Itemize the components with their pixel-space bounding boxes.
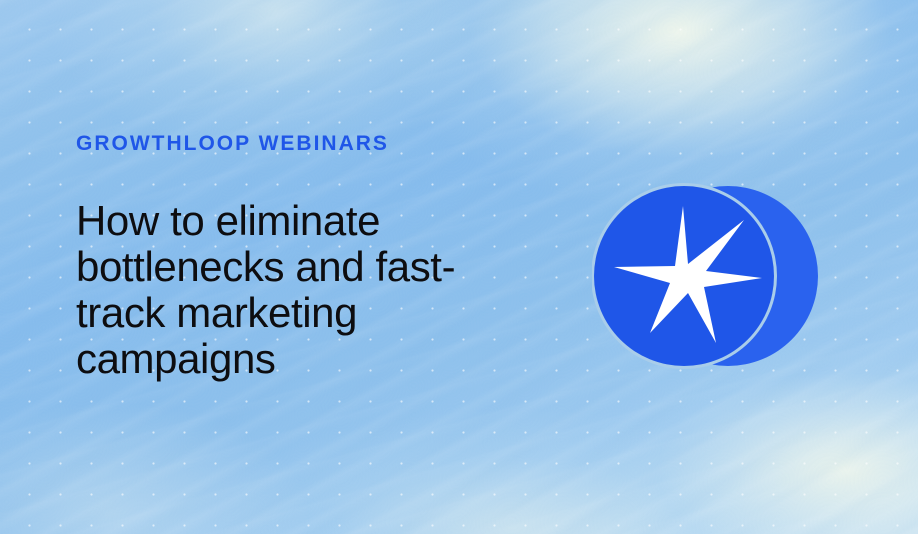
eyebrow-label: GROWTHLOOP WEBINARS (76, 133, 389, 154)
growthloop-logo (592, 180, 824, 372)
webinar-banner: GROWTHLOOP WEBINARS How to eliminate bot… (0, 0, 918, 534)
page-title: How to eliminate bottlenecks and fast-tr… (76, 198, 496, 382)
logo-svg (592, 180, 824, 372)
text-content-block: GROWTHLOOP WEBINARS How to eliminate bot… (76, 0, 546, 534)
